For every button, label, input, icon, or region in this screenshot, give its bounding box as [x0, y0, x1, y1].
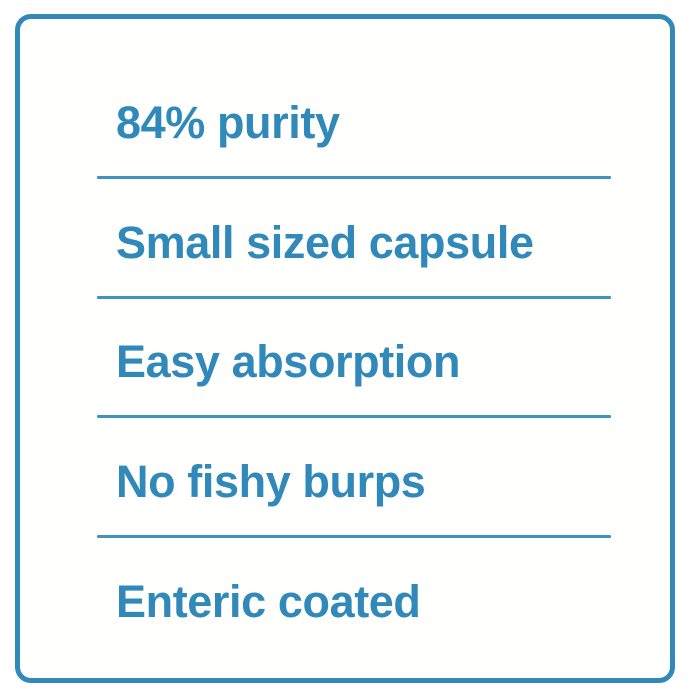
divider — [97, 176, 611, 179]
feature-label-purity: 84% purity — [116, 99, 340, 146]
list-item: 84% purity — [20, 63, 670, 183]
feature-list: 84% purity Small sized capsule Easy abso… — [20, 19, 670, 678]
divider — [97, 535, 611, 538]
feature-label-capsule-size: Small sized capsule — [116, 219, 534, 266]
feature-label-enteric-coated: Enteric coated — [116, 578, 421, 625]
list-item: No fishy burps — [20, 422, 670, 542]
feature-label-no-fishy-burps: No fishy burps — [116, 458, 425, 505]
list-item: Enteric coated — [20, 542, 670, 662]
product-feature-card: 84% purity Small sized capsule Easy abso… — [15, 14, 675, 683]
list-item: Small sized capsule — [20, 183, 670, 303]
divider — [97, 296, 611, 299]
feature-label-absorption: Easy absorption — [116, 338, 460, 385]
list-item: Easy absorption — [20, 302, 670, 422]
divider — [97, 415, 611, 418]
